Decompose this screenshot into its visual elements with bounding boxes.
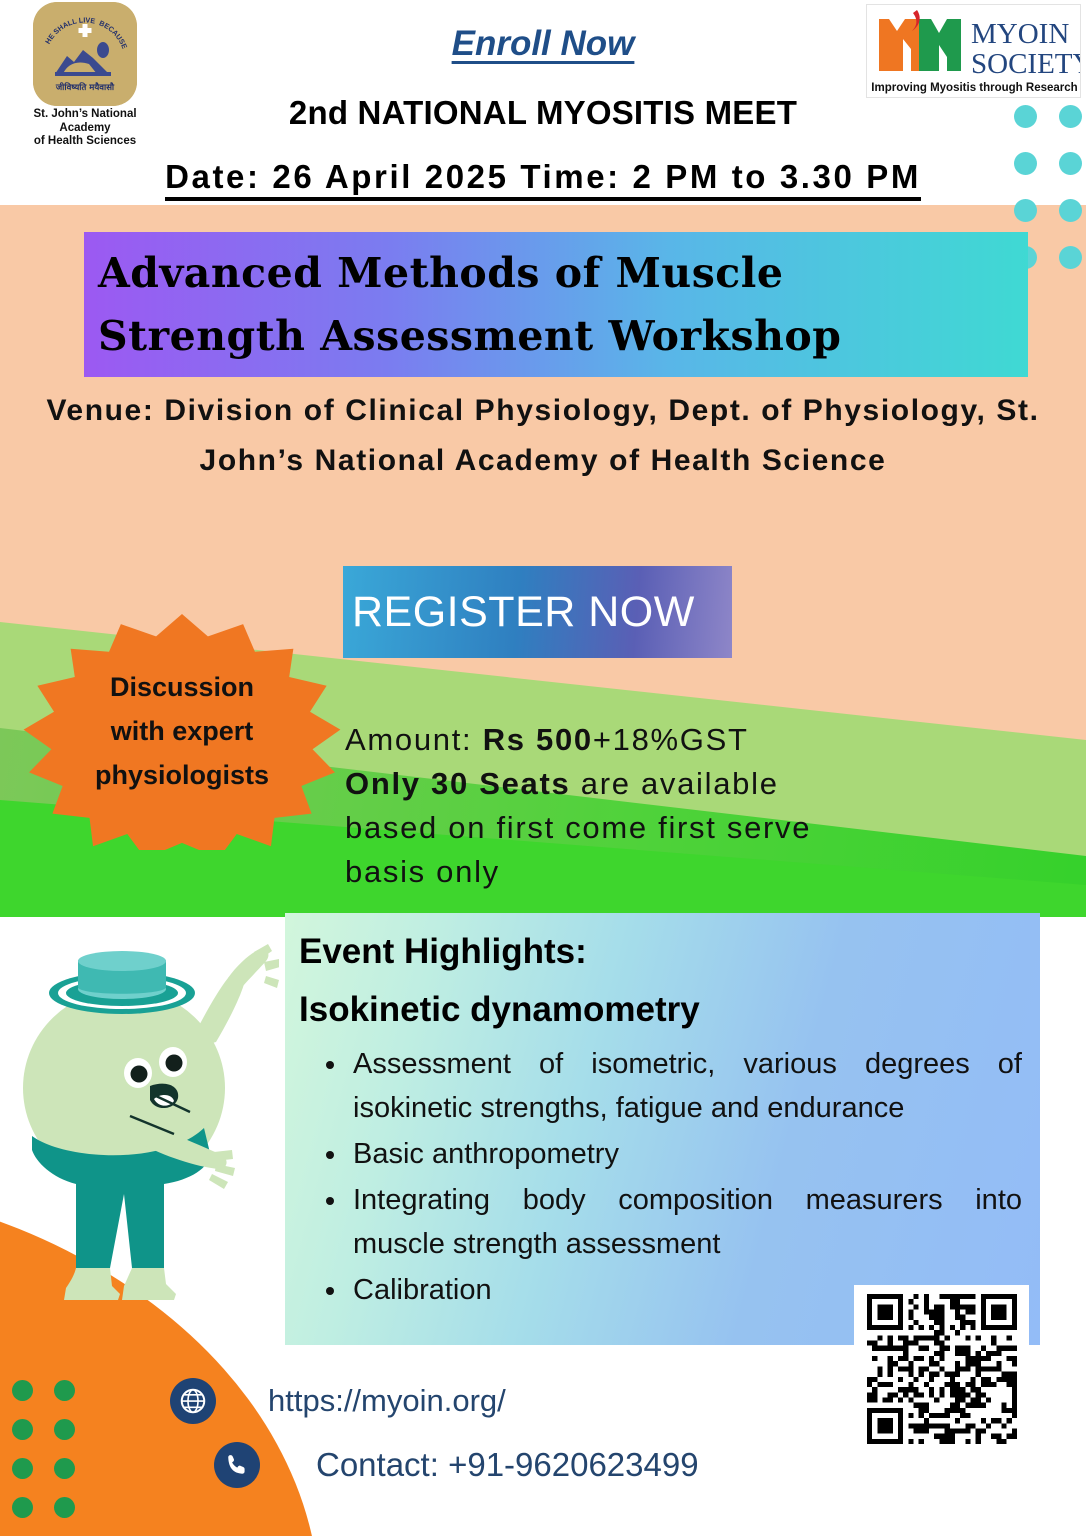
register-now-label: REGISTER NOW (352, 588, 695, 637)
amount-line-fee: Amount: Rs 500+18%GST (345, 718, 1045, 762)
mascot-character (14, 938, 279, 1310)
globe-icon-art (178, 1386, 208, 1416)
green-dot (12, 1497, 33, 1518)
starburst-line1: Discussion (110, 672, 254, 702)
phone-row[interactable]: Contact: +91-9620623499 (214, 1442, 699, 1488)
starburst-line3: physiologists (95, 760, 269, 790)
qr-code-art (867, 1294, 1017, 1444)
amount-fee-rest: +18%GST (593, 722, 749, 757)
green-dot (12, 1458, 33, 1479)
meet-title: 2nd NATIONAL MYOSITIS MEET (0, 94, 1086, 132)
green-dot (54, 1380, 75, 1401)
green-dot (12, 1419, 33, 1440)
amount-line-seats3: basis only (345, 850, 1045, 894)
svg-text:जीविष्यति मयैवासौ: जीविष्यति मयैवासौ (55, 82, 115, 93)
amount-line-seats2: based on first come first serve (345, 806, 1045, 850)
date-time-text: Date: 26 April 2025 Time: 2 PM to 3.30 P… (165, 158, 921, 201)
amount-label: Amount: (345, 722, 472, 757)
green-dot (12, 1380, 33, 1401)
green-dots-decoration (12, 1380, 122, 1530)
workshop-title-box: Advanced Methods of Muscle Strength Asse… (84, 232, 1028, 377)
event-highlights-list: Assessment of isometric, various degrees… (299, 1042, 1022, 1312)
cyan-dot (1059, 246, 1082, 269)
venue-text: Venue: Division of Clinical Physiology, … (30, 386, 1056, 487)
seats-bold: Only 30 Seats (345, 766, 570, 801)
cyan-dot (1014, 199, 1037, 222)
date-time-line: Date: 26 April 2025 Time: 2 PM to 3.30 P… (0, 158, 1086, 196)
qr-code[interactable] (854, 1285, 1029, 1453)
amount-fee-bold: Rs 500 (483, 722, 593, 757)
starburst-text: Discussion with expert physiologists (95, 666, 269, 797)
event-highlights-box: Event Highlights: Isokinetic dynamometry… (285, 913, 1040, 1345)
event-highlights-heading: Event Highlights: (299, 929, 1022, 975)
phone-icon (214, 1442, 260, 1488)
poster-canvas: HE SHALL LIVE BECAUSE OF ME जीविष्यति मय… (0, 0, 1086, 1536)
mascot-character-art (14, 938, 279, 1310)
workshop-title-line2: Strength Assessment Workshop (98, 305, 1014, 367)
event-highlight-bullet: Assessment of isometric, various degrees… (349, 1042, 1022, 1130)
website-row[interactable]: https://myoin.org/ (170, 1378, 506, 1424)
phone-text[interactable]: Contact: +91-9620623499 (316, 1446, 699, 1484)
amount-block: Amount: Rs 500+18%GST Only 30 Seats are … (345, 718, 1045, 894)
event-highlight-bullet: Integrating body composition measurers i… (349, 1178, 1022, 1266)
amount-line-seats: Only 30 Seats are available (345, 762, 1045, 806)
starburst-line2: with expert (111, 716, 254, 746)
event-highlight-bullet: Basic anthropometry (349, 1132, 1022, 1176)
event-highlights-subheading: Isokinetic dynamometry (299, 987, 1022, 1033)
register-now-button[interactable]: REGISTER NOW (343, 566, 732, 658)
enroll-now-heading[interactable]: Enroll Now (0, 24, 1086, 64)
cyan-dot (1059, 199, 1082, 222)
phone-icon-art (223, 1451, 251, 1479)
green-dot (54, 1458, 75, 1479)
globe-icon (170, 1378, 216, 1424)
workshop-title-line1: Advanced Methods of Muscle (98, 242, 1014, 304)
green-dot (54, 1419, 75, 1440)
seats-rest: are available (570, 766, 778, 801)
green-dot (54, 1497, 75, 1518)
st-johns-caption-line2: of Health Sciences (10, 135, 160, 149)
website-text[interactable]: https://myoin.org/ (268, 1383, 506, 1419)
myoin-tagline: Improving Myositis through Research (867, 82, 1082, 94)
